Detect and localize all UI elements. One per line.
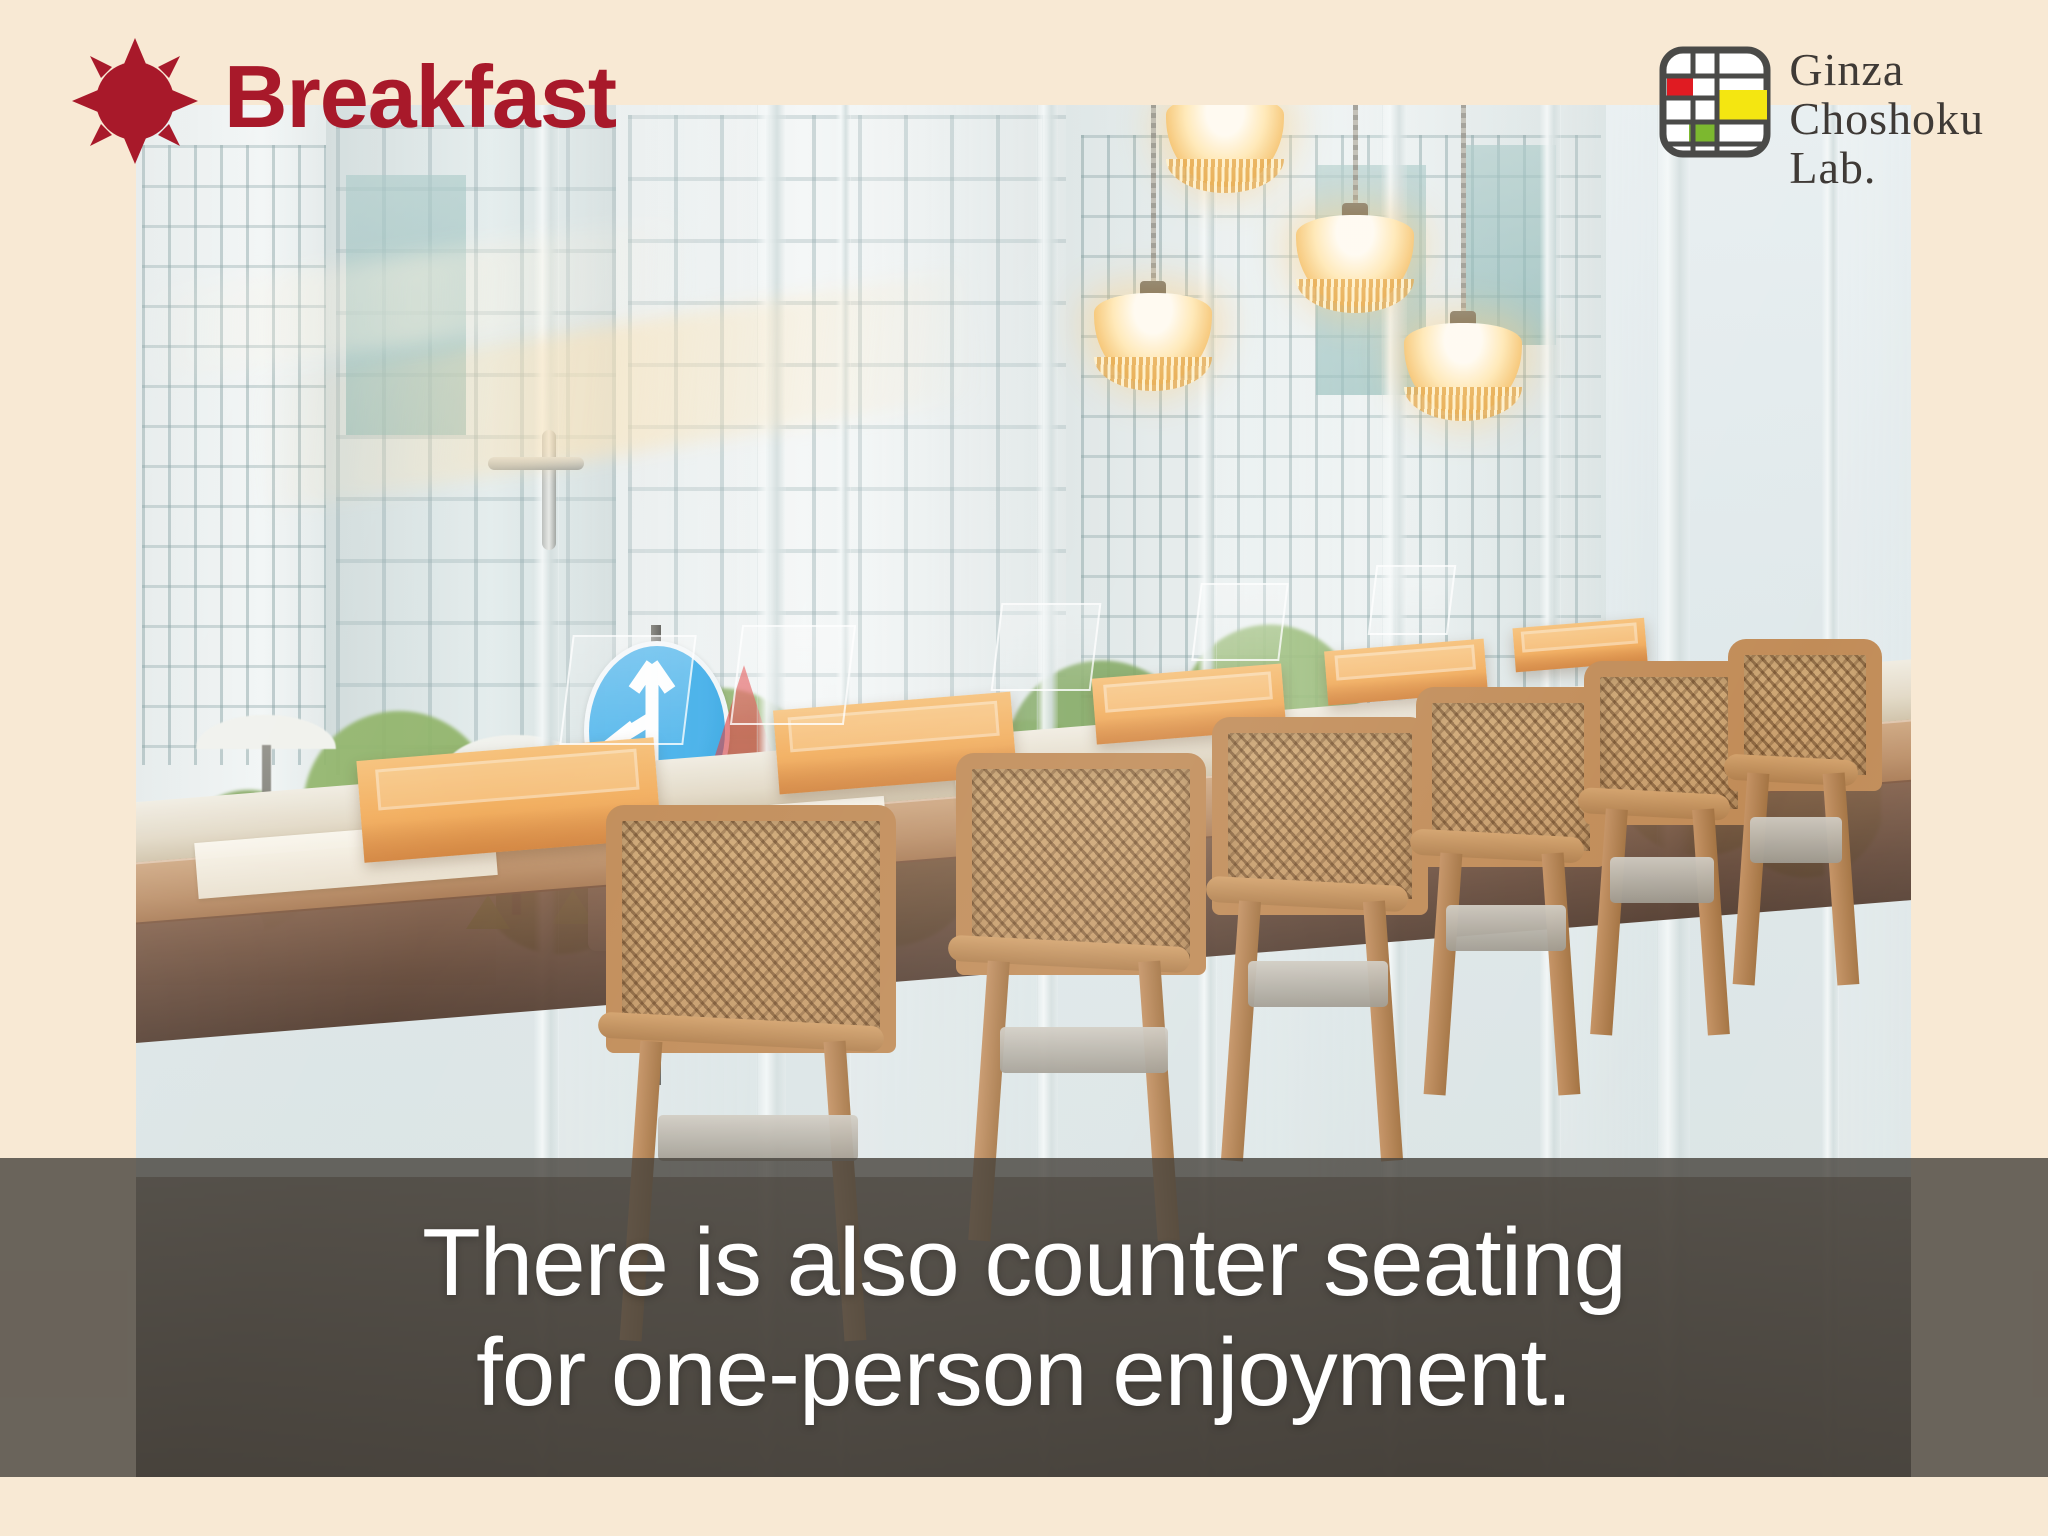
acrylic-divider-1 [559,635,697,745]
slide-root: 自転車を除く 一方通行 [0,0,2048,1536]
lab-logo-line-2: Choshoku [1789,95,1984,144]
caption-line-2: for one-person enjoyment. [476,1318,1572,1427]
ginza-choshoku-lab-logo: Ginza Choshoku Lab. [1659,46,1984,192]
mondrian-grid-logo-icon [1659,46,1771,158]
door-handle-horizontal [488,457,584,470]
acrylic-divider-3 [991,603,1102,691]
patio-umbrella-a [196,715,336,749]
lab-logo-line-1: Ginza [1789,46,1984,95]
pendant-lamp-2 [1296,215,1414,307]
pendant-lamp-3 [1404,323,1522,415]
pendant-lamp-4 [1094,293,1212,385]
lab-logo-wordmark: Ginza Choshoku Lab. [1789,46,1984,192]
page-title: Breakfast [224,53,616,141]
acrylic-divider-2 [730,625,856,725]
brand-block: Breakfast [72,34,616,164]
acrylic-divider-5 [1368,565,1457,635]
caption-overlay: There is also counter seating for one-pe… [0,1158,2048,1477]
lab-logo-line-3: Lab. [1789,144,1984,193]
sun-icon [72,38,198,164]
pendant-lamp-1 [1166,105,1284,187]
header-bar: Breakfast [0,0,2048,108]
caption-line-1: There is also counter seating [422,1208,1626,1317]
acrylic-divider-4 [1191,583,1289,661]
door-handle-vertical [542,430,556,550]
